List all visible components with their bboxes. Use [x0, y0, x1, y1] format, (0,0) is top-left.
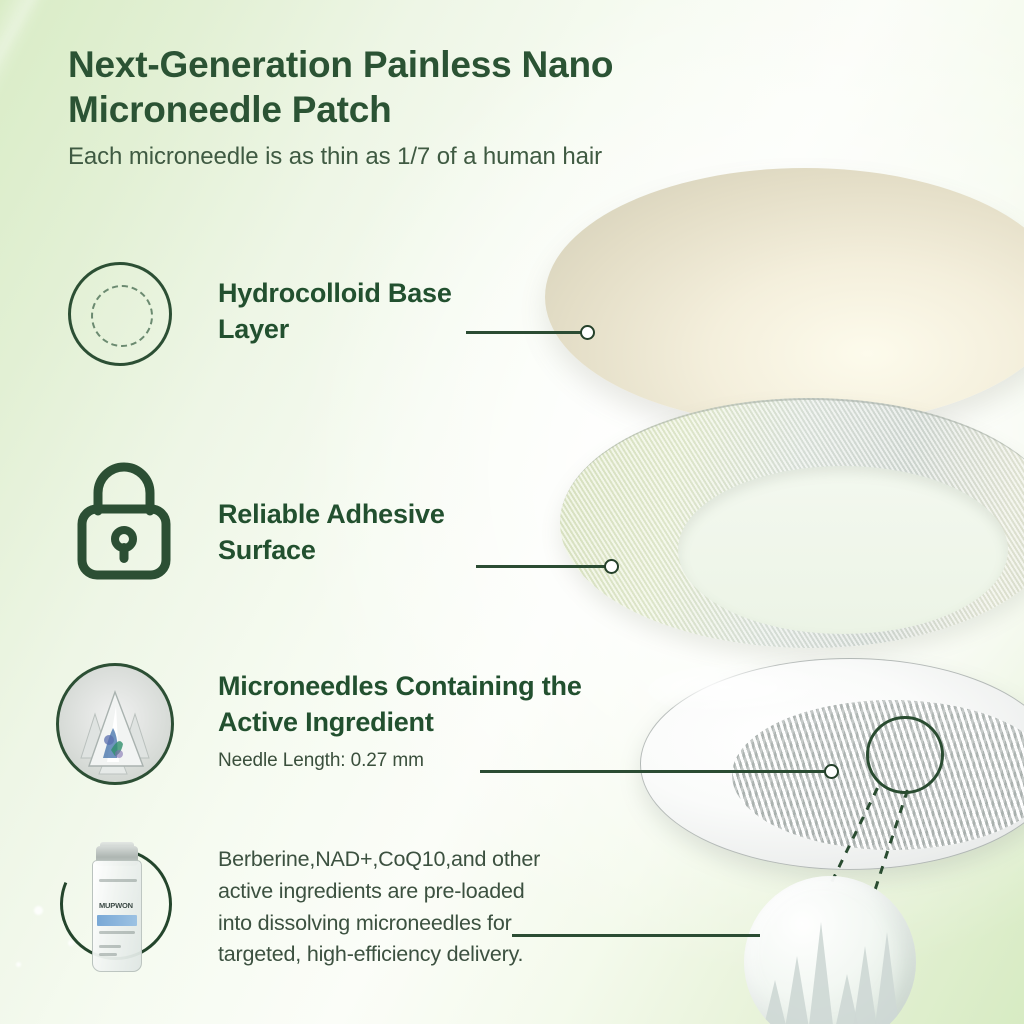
microneedle-pyramid-icon — [56, 663, 174, 785]
hydrocolloid-layer-rim — [545, 186, 1024, 444]
light-streak — [0, 0, 23, 525]
magnifier-leader-line — [827, 787, 878, 889]
vial-label-band — [97, 915, 137, 926]
feature-title: Hydrocolloid Base Layer — [218, 276, 518, 348]
adhesive-ring-surface — [560, 398, 1024, 648]
needle-cone — [852, 946, 878, 1024]
microneedle-field — [732, 700, 1024, 850]
adhesive-ring-layer — [560, 398, 1024, 648]
hydrocolloid-base-layer — [545, 168, 1024, 426]
magnified-needle-bubble — [744, 876, 916, 1024]
vial-body: MUPWON — [92, 860, 142, 972]
feature-title: Reliable Adhesive Surface — [218, 497, 538, 569]
vial-icon: MUPWON — [56, 840, 176, 990]
ingredients-description: Berberine,NAD+,CoQ10,and other active in… — [218, 844, 548, 971]
needle-cone — [762, 980, 788, 1024]
needle-length-label: Needle Length: 0.27 mm — [218, 750, 658, 772]
disc-highlight — [648, 664, 838, 716]
feature-title: Microneedles Containing the Active Ingre… — [218, 669, 658, 741]
connector-line-ingredients — [512, 934, 760, 937]
dashed-circle-icon — [68, 262, 172, 366]
adhesive-ring-hole — [678, 466, 1008, 634]
page-title: Next-Generation Painless Nano Microneedl… — [68, 42, 728, 132]
needle-cone — [874, 932, 900, 1024]
needle-cone — [808, 922, 834, 1024]
page-subtitle: Each microneedle is as thin as 1/7 of a … — [68, 143, 768, 171]
magnifier-leader-line — [871, 790, 908, 897]
infographic-poster: Next-Generation Painless Nano Microneedl… — [0, 0, 1024, 1024]
connector-endpoint-microneedles — [824, 764, 839, 779]
connector-endpoint-hydrocolloid — [580, 325, 595, 340]
magnifier-ring-icon — [866, 716, 944, 794]
sparkle-dot — [16, 962, 21, 967]
vial-brand-label: MUPWON — [99, 901, 137, 910]
needle-cone — [834, 974, 860, 1024]
needle-cone — [784, 956, 810, 1024]
adhesive-ring-edge — [560, 398, 1024, 648]
connector-endpoint-adhesive — [604, 559, 619, 574]
feature-text-block: Berberine,NAD+,CoQ10,and other active in… — [218, 844, 548, 971]
feature-text-block: Hydrocolloid Base Layer — [218, 276, 518, 348]
feature-text-block: Microneedles Containing the Active Ingre… — [218, 669, 658, 772]
sparkle-dot — [34, 906, 43, 915]
feature-text-block: Reliable Adhesive Surface — [218, 497, 538, 569]
lock-icon — [68, 455, 180, 586]
